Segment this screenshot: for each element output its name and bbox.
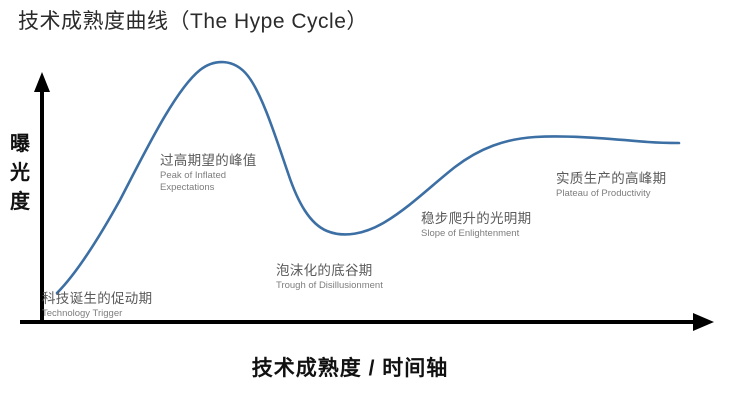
- annotation-trough-of-disillusionment: 泡沫化的底谷期 Trough of Disillusionment: [276, 262, 383, 292]
- annotation-label-cn: 泡沫化的底谷期: [276, 262, 383, 280]
- annotation-label-en-line-1: Slope of Enlightenment: [421, 228, 531, 240]
- y-axis-label-char-2: 光: [6, 159, 34, 188]
- annotation-label-en-line-1: Trough of Disillusionment: [276, 280, 383, 292]
- annotation-label-en-line-1: Plateau of Productivity: [556, 188, 666, 200]
- hype-curve-layer: [0, 0, 730, 406]
- annotation-label-en-line-1: Peak of Inflated: [160, 170, 257, 182]
- y-axis-label-char-1: 曝: [6, 130, 34, 159]
- hype-cycle-chart: 技术成熟度曲线（The Hype Cycle） 曝 光 度 技术成熟度 / 时间…: [0, 0, 730, 406]
- annotation-label-en: Trough of Disillusionment: [276, 280, 383, 292]
- annotation-label-cn: 实质生产的高峰期: [556, 170, 666, 188]
- annotation-slope-of-enlightenment: 稳步爬升的光明期 Slope of Enlightenment: [421, 210, 531, 240]
- annotation-technology-trigger: 科技诞生的促动期 Technology Trigger: [42, 290, 152, 320]
- x-axis-label: 技术成熟度 / 时间轴: [0, 352, 700, 382]
- annotation-peak-of-inflated-expectations: 过高期望的峰值 Peak of Inflated Expectations: [160, 152, 257, 193]
- annotation-label-en: Technology Trigger: [42, 308, 152, 320]
- annotation-label-en-line-1: Technology Trigger: [42, 308, 152, 320]
- annotation-label-en: Peak of Inflated Expectations: [160, 170, 257, 193]
- annotation-label-cn: 稳步爬升的光明期: [421, 210, 531, 228]
- annotation-label-en: Slope of Enlightenment: [421, 228, 531, 240]
- annotation-label-en: Plateau of Productivity: [556, 188, 666, 200]
- y-axis-label-char-3: 度: [6, 188, 34, 217]
- y-axis-label: 曝 光 度: [6, 130, 34, 217]
- annotation-label-cn: 科技诞生的促动期: [42, 290, 152, 308]
- annotation-label-en-line-2: Expectations: [160, 182, 257, 194]
- annotation-label-cn: 过高期望的峰值: [160, 152, 257, 170]
- annotation-plateau-of-productivity: 实质生产的高峰期 Plateau of Productivity: [556, 170, 666, 200]
